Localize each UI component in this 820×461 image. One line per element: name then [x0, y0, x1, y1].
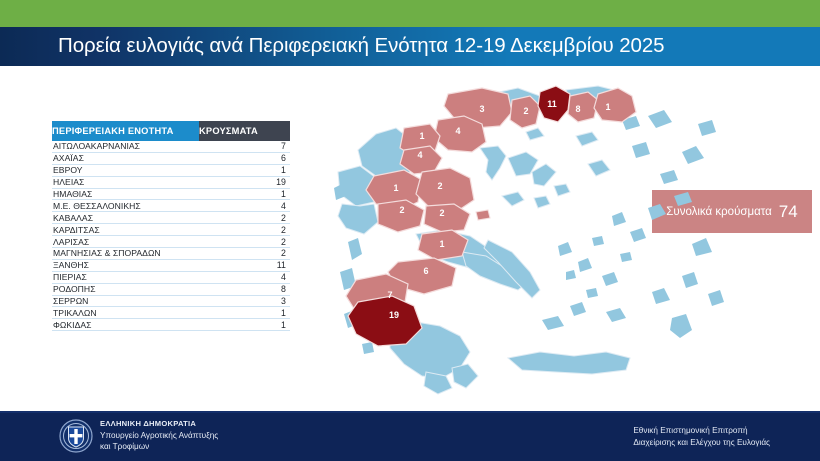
table-row: ΜΑΓΝΗΣΙΑΣ & ΣΠΟΡΑΔΩΝ2	[52, 248, 290, 260]
cell-region: ΗΛΕΙΑΣ	[52, 176, 199, 188]
map-label-magnisias: 2	[439, 208, 444, 218]
cell-cases: 1	[199, 319, 290, 331]
cell-region: ΗΜΑΘΙΑΣ	[52, 188, 199, 200]
cell-region: ΛΑΡΙΣΑΣ	[52, 236, 199, 248]
cell-cases: 2	[199, 236, 290, 248]
cell-region: ΦΩΚΙΔΑΣ	[52, 319, 199, 331]
greek-coat-of-arms-icon	[58, 418, 94, 454]
cell-cases: 2	[199, 248, 290, 260]
cell-cases: 1	[199, 307, 290, 319]
map-label-serron: 3	[479, 104, 484, 114]
map-label-trikalon: 1	[393, 183, 398, 193]
table-row: ΚΑΒΑΛΑΣ2	[52, 212, 290, 224]
cell-region: ΜΑΓΝΗΣΙΑΣ & ΣΠΟΡΑΔΩΝ	[52, 248, 199, 260]
map-label-aitoloakarnanias: 7	[387, 290, 392, 300]
cell-cases: 3	[199, 295, 290, 307]
cell-cases: 4	[199, 200, 290, 212]
ministry-line-3: και Τροφίμων	[100, 441, 218, 453]
title-bar: Πορεία ευλογιάς ανά Περιφερειακή Ενότητα…	[0, 27, 820, 66]
committee-line-1: Εθνική Επιστημονική Επιτροπή	[633, 425, 770, 437]
committee-text: Εθνική Επιστημονική Επιτροπή Διαχείρισης…	[633, 425, 770, 449]
map-label-imathias: 4	[417, 150, 422, 160]
table-header-row: ΠΕΡΙΦΕΡΕΙΑΚΗ ΕΝΟΤΗΤΑ ΚΡΟΥΣΜΑΤΑ	[52, 121, 290, 141]
cell-cases: 11	[199, 259, 290, 271]
greece-map: 321181414122216719	[330, 76, 730, 406]
table-row: Μ.Ε. ΘΕΣΣΑΛΟΝΙΚΗΣ4	[52, 200, 290, 212]
cell-region: ΤΡΙΚΑΛΩΝ	[52, 307, 199, 319]
cell-region: ΡΟΔΟΠΗΣ	[52, 283, 199, 295]
table-row: ΕΒΡΟΥ1	[52, 164, 290, 176]
cell-cases: 4	[199, 271, 290, 283]
cell-region: ΚΑΡΔΙΤΣΑΣ	[52, 224, 199, 236]
cell-cases: 2	[199, 224, 290, 236]
infographic-page: Πορεία ευλογιάς ανά Περιφερειακή Ενότητα…	[0, 0, 820, 461]
cell-cases: 1	[199, 188, 290, 200]
column-header-region: ΠΕΡΙΦΕΡΕΙΑΚΗ ΕΝΟΤΗΤΑ	[52, 121, 199, 141]
cell-region: Μ.Ε. ΘΕΣΣΑΛΟΝΙΚΗΣ	[52, 200, 199, 212]
green-top-bar	[0, 0, 820, 27]
committee-line-2: Διαχείρισης και Ελέγχου της Ευλογιάς	[633, 437, 770, 449]
cell-region: ΕΒΡΟΥ	[52, 164, 199, 176]
cell-cases: 6	[199, 152, 290, 164]
table-row: ΣΕΡΡΩΝ3	[52, 295, 290, 307]
ministry-line-1: ΕΛΛΗΝΙΚΗ ΔΗΜΟΚΡΑΤΙΑ	[100, 419, 218, 430]
table-row: ΑΧΑΪΑΣ6	[52, 152, 290, 164]
table-body: ΑΙΤΩΛΟΑΚΑΡΝΑΝΙΑΣ7ΑΧΑΪΑΣ6ΕΒΡΟΥ1ΗΛΕΙΑΣ19ΗΜ…	[52, 141, 290, 331]
table-row: ΛΑΡΙΣΑΣ2	[52, 236, 290, 248]
cell-cases: 1	[199, 164, 290, 176]
map-label-pierias: 1	[419, 131, 424, 141]
cases-table: ΠΕΡΙΦΕΡΕΙΑΚΗ ΕΝΟΤΗΤΑ ΚΡΟΥΣΜΑΤΑ ΑΙΤΩΛΟΑΚΑ…	[52, 121, 290, 331]
cell-cases: 2	[199, 212, 290, 224]
table-row: ΗΛΕΙΑΣ19	[52, 176, 290, 188]
cell-region: ΑΧΑΪΑΣ	[52, 152, 199, 164]
affected-regions-group	[346, 86, 636, 346]
cell-region: ΚΑΒΑΛΑΣ	[52, 212, 199, 224]
map-label-larisas: 2	[437, 181, 442, 191]
map-label-achaias: 6	[423, 266, 428, 276]
greece-map-svg: 321181414122216719	[330, 76, 730, 406]
map-label-kavalas: 2	[523, 106, 528, 116]
total-cases-value: 74	[779, 202, 798, 222]
map-label-thessalonikis: 4	[455, 126, 460, 136]
table-row: ΡΟΔΟΠΗΣ8	[52, 283, 290, 295]
footer-divider	[0, 411, 820, 413]
table-row: ΞΑΝΘΗΣ11	[52, 259, 290, 271]
map-label-xanthis: 11	[547, 99, 557, 109]
cell-region: ΠΙΕΡΙΑΣ	[52, 271, 199, 283]
map-label-karditsas: 2	[399, 205, 404, 215]
table-row: ΚΑΡΔΙΤΣΑΣ2	[52, 224, 290, 236]
table-row: ΗΜΑΘΙΑΣ1	[52, 188, 290, 200]
unaffected-regions-group	[334, 86, 724, 394]
map-label-fokidas: 1	[439, 239, 444, 249]
cases-table-wrapper: ΠΕΡΙΦΕΡΕΙΑΚΗ ΕΝΟΤΗΤΑ ΚΡΟΥΣΜΑΤΑ ΑΙΤΩΛΟΑΚΑ…	[52, 121, 290, 331]
ministry-text: ΕΛΛΗΝΙΚΗ ΔΗΜΟΚΡΑΤΙΑ Υπουργείο Αγροτικής …	[100, 419, 218, 453]
map-label-rodopis: 8	[575, 104, 580, 114]
ministry-line-2: Υπουργείο Αγροτικής Ανάπτυξης	[100, 430, 218, 442]
map-label-ileias: 19	[389, 310, 399, 320]
cell-cases: 19	[199, 176, 290, 188]
table-row: ΑΙΤΩΛΟΑΚΑΡΝΑΝΙΑΣ7	[52, 141, 290, 152]
table-row: ΠΙΕΡΙΑΣ4	[52, 271, 290, 283]
table-row: ΤΡΙΚΑΛΩΝ1	[52, 307, 290, 319]
map-label-evrou: 1	[605, 102, 610, 112]
page-title: Πορεία ευλογιάς ανά Περιφερειακή Ενότητα…	[58, 36, 664, 57]
cell-cases: 8	[199, 283, 290, 295]
cell-cases: 7	[199, 141, 290, 152]
cell-region: ΣΕΡΡΩΝ	[52, 295, 199, 307]
cell-region: ΞΑΝΘΗΣ	[52, 259, 199, 271]
cell-region: ΑΙΤΩΛΟΑΚΑΡΝΑΝΙΑΣ	[52, 141, 199, 152]
table-row: ΦΩΚΙΔΑΣ1	[52, 319, 290, 331]
column-header-cases: ΚΡΟΥΣΜΑΤΑ	[199, 121, 290, 141]
